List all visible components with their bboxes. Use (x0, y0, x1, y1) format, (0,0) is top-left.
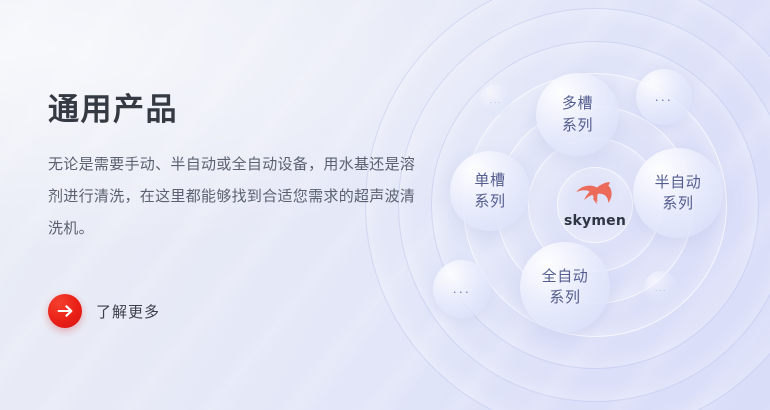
page-title: 通用产品 (48, 92, 440, 129)
series-bubble-label-line1: 半自动 (655, 172, 702, 193)
learn-more-button[interactable]: 了解更多 (48, 294, 160, 328)
product-series-diagram: 多槽 系列 单槽 系列 半自动 系列 全自动 系列 ... ... ... (420, 0, 770, 410)
series-bubble-single-tank[interactable]: 单槽 系列 (450, 151, 530, 231)
series-bubble-label-line1: 单槽 (474, 170, 505, 191)
series-bubble-more-bottom-right[interactable]: ... (644, 271, 678, 305)
hero-copy: 通用产品 无论是需要手动、半自动或全自动设备，用水基还是溶剂进行清洗，在这里都能… (48, 92, 440, 245)
ellipsis-icon: ... (655, 88, 673, 106)
series-bubble-semi-auto[interactable]: 半自动 系列 (633, 148, 723, 238)
series-bubble-label-line2: 系列 (562, 115, 593, 136)
ellipsis-icon: ... (655, 282, 667, 295)
series-bubble-label-line2: 系列 (549, 287, 580, 308)
series-bubble-label-line1: 全自动 (542, 266, 589, 287)
series-bubble-label-line2: 系列 (662, 193, 693, 214)
skymen-wordmark: skymen (564, 213, 626, 229)
series-bubble-more-bottom-left[interactable]: ... (433, 260, 491, 318)
product-hero-banner: 多槽 系列 单槽 系列 半自动 系列 全自动 系列 ... ... ... (0, 0, 770, 410)
series-bubble-label-line2: 系列 (474, 191, 505, 212)
series-bubble-label-line1: 多槽 (562, 93, 593, 114)
hero-description: 无论是需要手动、半自动或全自动设备，用水基还是溶剂进行清洗，在这里都能够找到合适… (48, 149, 430, 245)
ellipsis-icon: ... (453, 280, 471, 298)
series-bubble-multi-tank[interactable]: 多槽 系列 (536, 73, 619, 156)
series-bubble-more-top-left[interactable]: ... (480, 84, 512, 116)
learn-more-label: 了解更多 (96, 301, 160, 322)
series-bubble-full-auto[interactable]: 全自动 系列 (520, 242, 610, 332)
dolphin-icon (574, 181, 616, 212)
skymen-logo[interactable]: skymen (564, 181, 626, 229)
series-bubble-more-top-right[interactable]: ... (636, 69, 692, 125)
arrow-right-icon (48, 294, 82, 328)
ellipsis-icon: ... (490, 94, 502, 107)
